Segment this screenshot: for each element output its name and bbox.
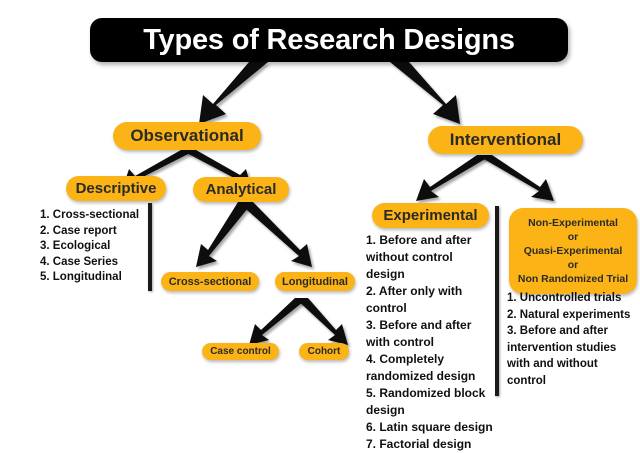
non-experimental-line-5: Non Randomized Trial	[513, 272, 633, 286]
node-interventional[interactable]: Interventional	[428, 126, 583, 154]
divider-right	[495, 206, 499, 396]
diagram-canvas: Types of Research Designs Observational …	[0, 0, 640, 448]
page-title-text: Types of Research Designs	[143, 24, 515, 57]
arrow-analytical-to-cross-sectional	[196, 202, 253, 267]
node-observational-label: Observational	[130, 126, 243, 146]
node-cross-sectional[interactable]: Cross-sectional	[161, 272, 259, 291]
node-cohort-label: Cohort	[308, 346, 341, 357]
list-item: 1. Uncontrolled trials	[507, 290, 639, 307]
arrow-longitudinal-to-cohort	[295, 298, 348, 345]
list-item: 6. Latin square design	[366, 419, 494, 436]
node-longitudinal-label: Longitudinal	[282, 276, 348, 288]
arrow-analytical-to-longitudinal	[238, 202, 312, 267]
arrow-interventional-to-non-experimental	[477, 155, 554, 201]
node-non-experimental[interactable]: Non-Experimental or Quasi-Experimental o…	[509, 208, 637, 294]
list-experimental: 1. Before and after without control desi…	[366, 232, 494, 453]
list-item: 3. Ecological	[40, 239, 155, 255]
node-interventional-label: Interventional	[450, 130, 561, 150]
non-experimental-line-3: Quasi-Experimental	[513, 244, 633, 258]
arrow-longitudinal-to-case-control	[249, 298, 308, 345]
arrow-interventional-to-experimental	[416, 155, 492, 201]
list-item: 5. Randomized block design	[366, 385, 494, 419]
list-item: 4. Completely randomized design	[366, 351, 494, 385]
node-descriptive-label: Descriptive	[76, 180, 157, 197]
node-cross-sectional-label: Cross-sectional	[169, 276, 252, 288]
node-analytical[interactable]: Analytical	[193, 177, 289, 202]
page-title: Types of Research Designs	[90, 18, 568, 62]
list-item: 3. Before and after intervention studies…	[507, 323, 639, 389]
node-experimental-label: Experimental	[383, 207, 477, 224]
list-item: 1. Before and after without control desi…	[366, 232, 494, 283]
list-item: 2. After only with control	[366, 283, 494, 317]
list-item: 4. Case Series	[40, 255, 155, 271]
list-item: 2. Natural experiments	[507, 307, 639, 324]
list-item: 2. Case report	[40, 224, 155, 240]
non-experimental-line-2: or	[513, 230, 633, 244]
node-longitudinal[interactable]: Longitudinal	[275, 272, 355, 291]
list-descriptive: 1. Cross-sectional2. Case report3. Ecolo…	[40, 208, 155, 286]
node-descriptive[interactable]: Descriptive	[66, 176, 166, 201]
arrow-title-to-observational	[199, 62, 268, 124]
node-cohort[interactable]: Cohort	[299, 343, 349, 360]
non-experimental-line-4: or	[513, 258, 633, 272]
node-case-control[interactable]: Case control	[202, 343, 279, 360]
list-item: 5. Longitudinal	[40, 270, 155, 286]
node-analytical-label: Analytical	[206, 181, 277, 198]
list-item: 1. Cross-sectional	[40, 208, 155, 224]
list-non-experimental: 1. Uncontrolled trials2. Natural experim…	[507, 290, 639, 389]
node-observational[interactable]: Observational	[113, 122, 261, 150]
non-experimental-line-1: Non-Experimental	[513, 216, 633, 230]
list-item: 7. Factorial design	[366, 436, 494, 453]
list-item: 3. Before and after with control	[366, 317, 494, 351]
arrow-title-to-interventional	[390, 62, 460, 124]
node-experimental[interactable]: Experimental	[372, 203, 489, 228]
node-case-control-label: Case control	[210, 346, 271, 357]
